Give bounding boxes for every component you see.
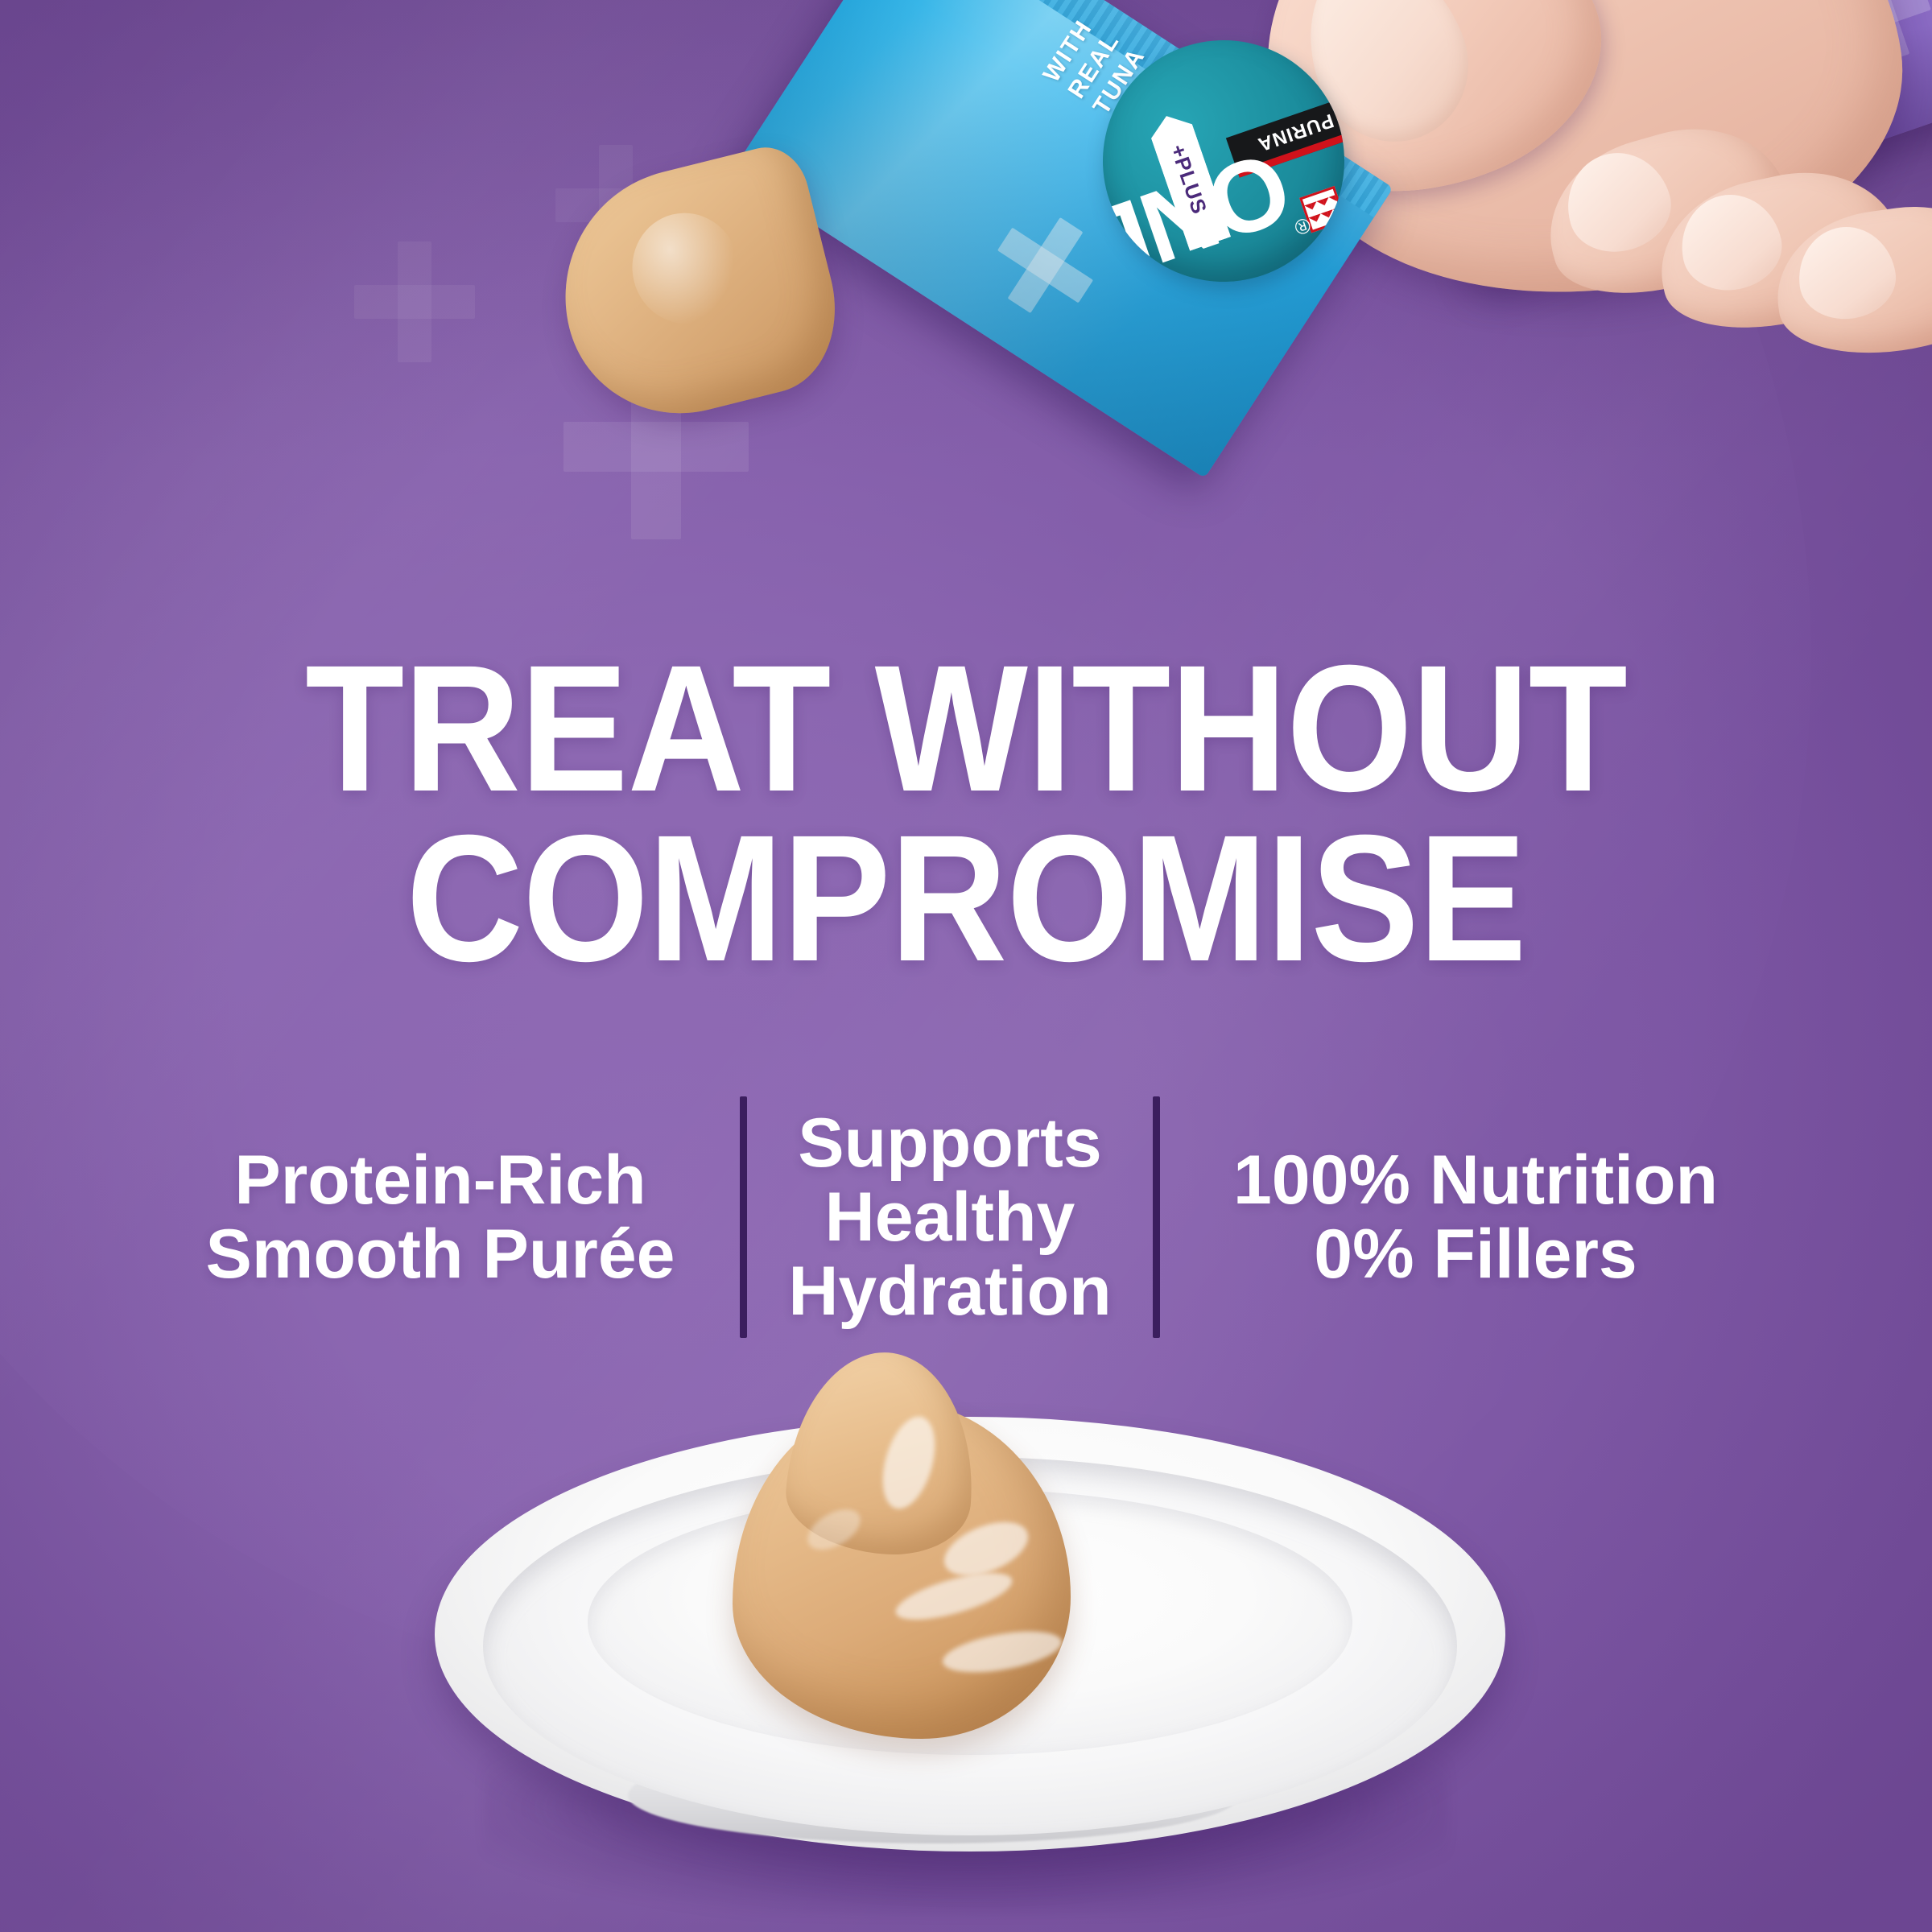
page-title: TREAT WITHOUT COMPROMISE — [97, 644, 1835, 983]
feature-divider — [1153, 1096, 1160, 1338]
feature-line: Smooth Purée — [159, 1217, 722, 1291]
feature-item-protein: Protein-Rich Smooth Purée — [159, 1143, 722, 1291]
feature-item-nutrition: 100% Nutrition 0% Fillers — [1178, 1143, 1773, 1291]
feature-line: Supports — [765, 1106, 1135, 1180]
feature-line: Protein-Rich — [159, 1143, 722, 1217]
product-photo: IMMUNE Ⓑ SUPPORT Purées — [829, 0, 1932, 491]
feature-line: Healthy — [765, 1180, 1135, 1254]
plate-photo — [386, 1368, 1546, 1932]
feature-list: Protein-Rich Smooth Purée Supports Healt… — [48, 1088, 1884, 1346]
feature-line: 0% Fillers — [1178, 1217, 1773, 1291]
plus-icon — [979, 198, 1113, 332]
feature-divider — [740, 1096, 747, 1338]
feature-item-hydration: Supports Healthy Hydration — [765, 1106, 1135, 1328]
headline-line-2: COMPROMISE — [97, 814, 1835, 984]
feature-line: 100% Nutrition — [1178, 1143, 1773, 1217]
feature-line: Hydration — [765, 1254, 1135, 1328]
advertisement-image: IMMUNE Ⓑ SUPPORT Purées — [0, 0, 1932, 1932]
